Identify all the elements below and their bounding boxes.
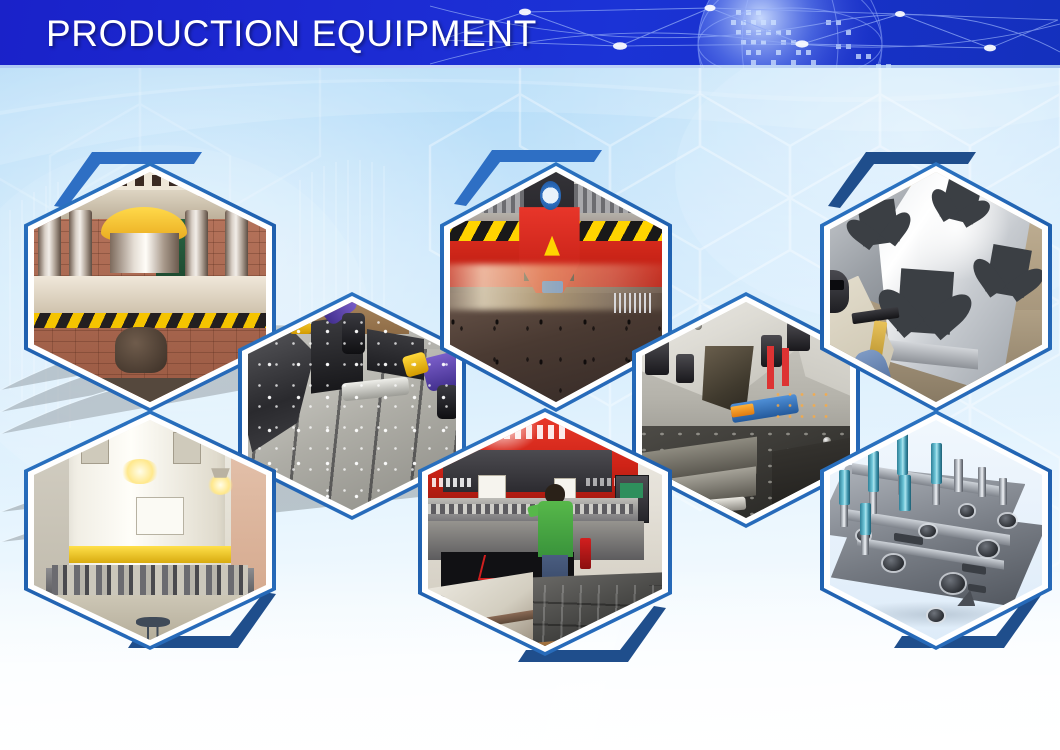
gallery-cell-sheet-metal-welding[interactable] — [820, 162, 1052, 412]
gallery-cell-progressive-stamping-die[interactable] — [820, 410, 1052, 650]
gallery-cell-stamping-press[interactable] — [24, 410, 276, 650]
page-title: PRODUCTION EQUIPMENT — [46, 13, 537, 55]
gallery-cell-cnc-press-brake[interactable] — [418, 408, 672, 656]
header-underline — [0, 65, 1060, 68]
poster-canvas: PRODUCTION EQUIPMENT — [0, 0, 1060, 750]
page-header: PRODUCTION EQUIPMENT — [0, 0, 1060, 68]
